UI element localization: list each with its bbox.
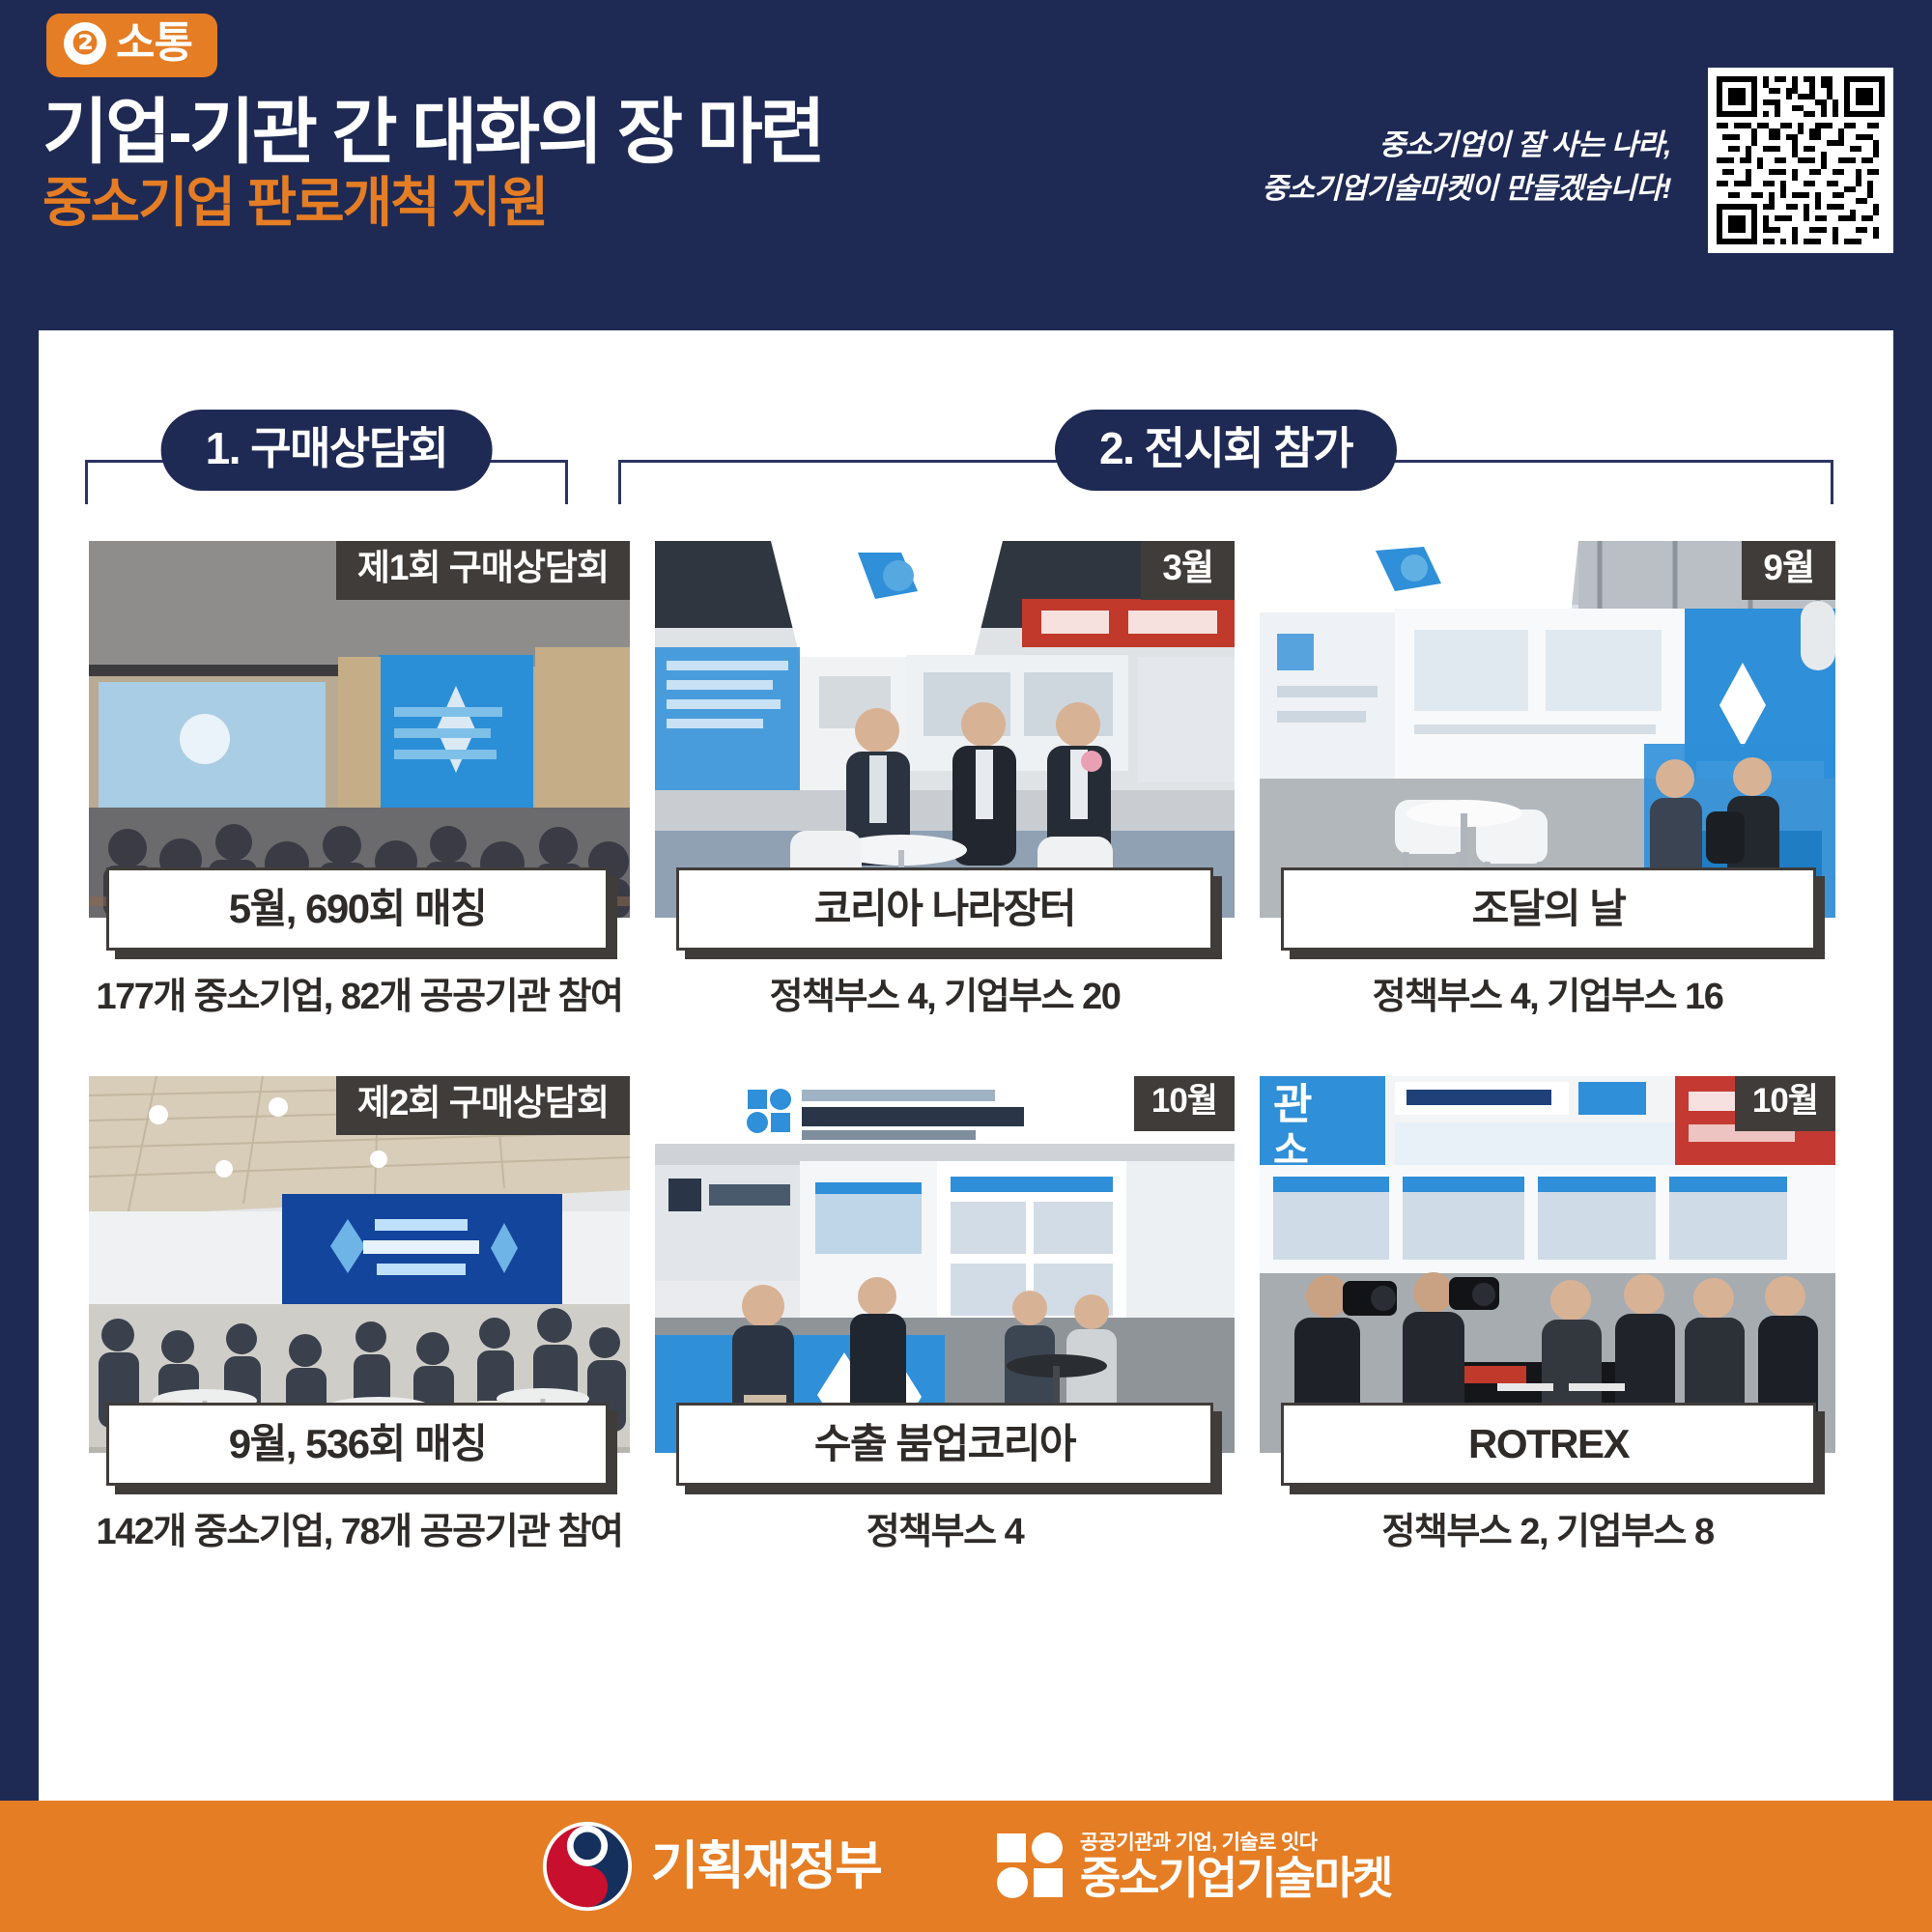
content-panel: 1. 구매상담회 2. 전시회 참가 [39, 330, 1893, 1801]
caption-expo-rotrex: ROTREX [1281, 1403, 1816, 1486]
tagline-line-2: 중소기업기술마켓이 만들겠습니다! [1262, 167, 1671, 211]
chip-consult-2: 제2회 구매상담회 [336, 1076, 630, 1135]
taegeuk-icon [541, 1820, 634, 1913]
card-consult-2-photo: 제2회 구매상담회 [89, 1076, 630, 1453]
subnote-expo-korea-market: 정책부스 4, 기업부스 20 [655, 978, 1235, 1018]
chip-consult-1: 제1회 구매상담회 [336, 541, 630, 600]
market-logo-name: 중소기업기술마켓 [1080, 1856, 1392, 1900]
card-expo-export-boom-photo: 10월 [655, 1076, 1235, 1453]
card-expo-procurement-day-photo: 9월 [1260, 541, 1835, 918]
chip-expo-korea-market: 3월 [1141, 541, 1235, 600]
subnote-expo-rotrex: 정책부스 2, 기업부스 8 [1260, 1513, 1835, 1553]
caption-consult-2: 9월, 536회 매칭 [106, 1403, 609, 1486]
chip-expo-export-boom: 10월 [1134, 1076, 1235, 1131]
card-consult-1-photo: 제1회 구매상담회 [89, 541, 630, 918]
market-logo: 공공기관과 기업, 기술로 잇다 중소기업기술마켓 [995, 1832, 1392, 1901]
caption-expo-export-boom-text: 수출 붐업코리아 [814, 1422, 1075, 1466]
subnote-consult-2: 142개 중소기업, 78개 공공기관 참여 [89, 1513, 630, 1553]
svg-text:관: 관 [1273, 1081, 1312, 1128]
tagline: 중소기업이 잘 사는 나라, 중소기업기술마켓이 만들겠습니다! [1262, 124, 1671, 211]
gov-logo-name: 기획재정부 [651, 1840, 881, 1892]
page-subtitle: 중소기업 판로개척 지원 [43, 172, 547, 234]
qr-code-icon[interactable] [1708, 68, 1893, 253]
poster-root: ❷ 소통 기업-기관 간 대화의 장 마련 중소기업 판로개척 지원 중소기업이… [0, 0, 1932, 1932]
caption-expo-procurement-day-text: 조달의 날 [1472, 887, 1626, 931]
tagline-line-1: 중소기업이 잘 사는 나라, [1262, 124, 1671, 167]
photo-expo-booth-lounge: 9월 [1260, 541, 1835, 918]
caption-consult-2-text: 9월, 536회 매칭 [229, 1422, 487, 1466]
subnote-consult-1: 177개 중소기업, 82개 공공기관 참여 [89, 978, 630, 1018]
page-title: 기업-기관 간 대화의 장 마련 [43, 91, 823, 173]
photo-consultation-hall-1: 제1회 구매상담회 [89, 541, 630, 918]
card-expo-rotrex-photo: 관 소 [1260, 1076, 1835, 1453]
section-number: ❷ [64, 22, 106, 65]
section-title-2: 2. 전시회 참가 [1055, 410, 1397, 491]
caption-expo-procurement-day: 조달의 날 [1281, 867, 1816, 951]
photo-rotrex-press-conference: 관 소 [1260, 1076, 1835, 1453]
market-logo-text: 공공기관과 기업, 기술로 잇다 중소기업기술마켓 [1080, 1833, 1392, 1900]
photo-expo-booth-discussion: 3월 [655, 541, 1235, 918]
caption-expo-korea-market-text: 코리아 나라장터 [814, 887, 1075, 931]
caption-consult-1-text: 5월, 690회 매칭 [229, 887, 487, 931]
caption-expo-export-boom: 수출 붐업코리아 [676, 1403, 1213, 1486]
market-symbol-icon [995, 1832, 1065, 1901]
caption-expo-rotrex-text: ROTREX [1468, 1422, 1629, 1466]
section-badge: ❷ 소통 [46, 14, 217, 77]
subnote-expo-export-boom: 정책부스 4 [655, 1513, 1235, 1553]
chip-expo-procurement-day: 9월 [1742, 541, 1835, 600]
subnote-expo-procurement-day: 정책부스 4, 기업부스 16 [1260, 978, 1835, 1018]
chip-expo-rotrex: 10월 [1735, 1076, 1835, 1131]
caption-expo-korea-market: 코리아 나라장터 [676, 867, 1213, 951]
gov-logo: 기획재정부 [541, 1820, 881, 1913]
photo-consultation-hall-2: 제2회 구매상담회 [89, 1076, 630, 1453]
card-expo-korea-market-photo: 3월 [655, 541, 1235, 918]
section-badge-label: 소통 [116, 21, 192, 66]
market-slogan: 공공기관과 기업, 기술로 잇다 [1080, 1833, 1392, 1853]
footer: 기획재정부 공공기관과 기업, 기술로 잇다 중소기업기술마켓 [0, 1801, 1932, 1932]
header: ❷ 소통 기업-기관 간 대화의 장 마련 중소기업 판로개척 지원 중소기업이… [0, 0, 1932, 330]
caption-consult-1: 5월, 690회 매칭 [106, 867, 609, 951]
photo-sme-technology-market-booth: 10월 [655, 1076, 1235, 1453]
section-title-1: 1. 구매상담회 [161, 410, 493, 491]
